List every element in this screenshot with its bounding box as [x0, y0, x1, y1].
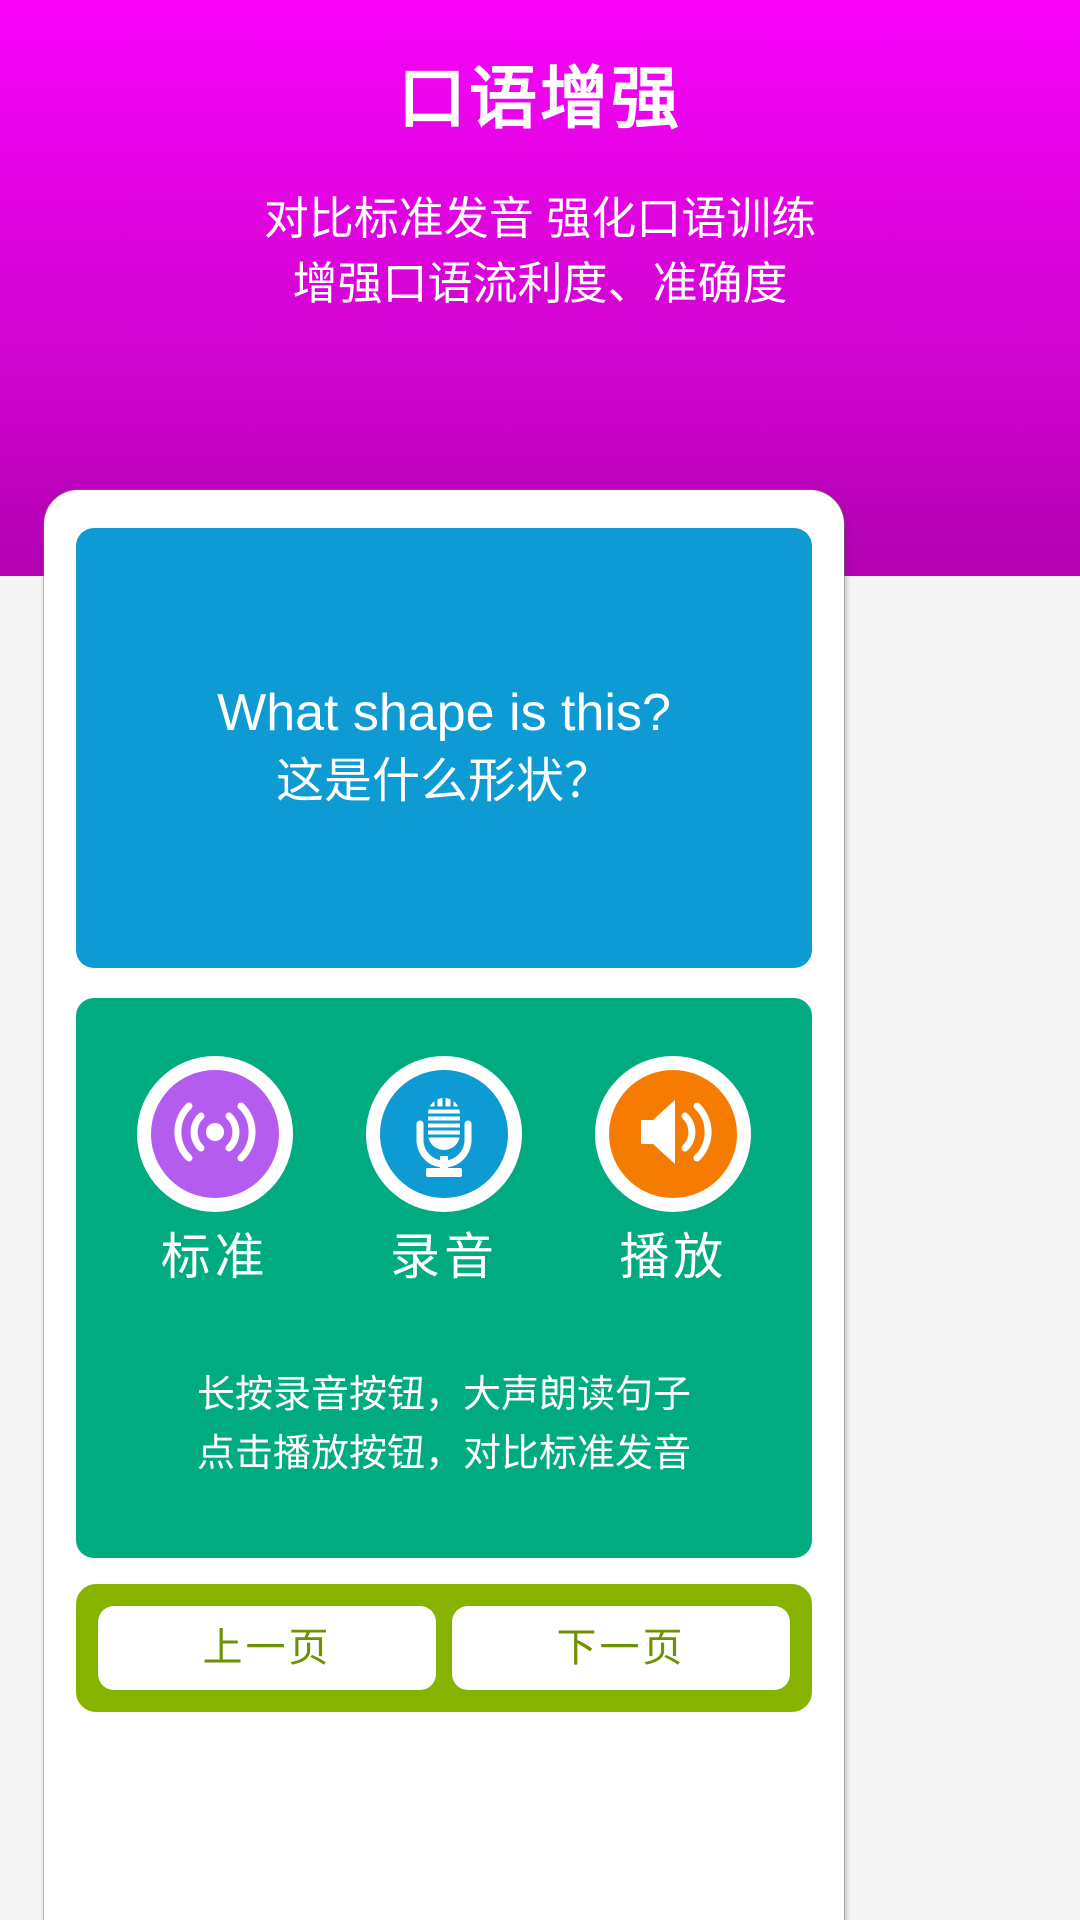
standard-button-ring	[137, 1056, 293, 1212]
device-card: What shape is this? 这是什么形状？	[44, 490, 844, 1920]
record-button-label: 录音	[390, 1232, 498, 1282]
record-button-ring	[366, 1056, 522, 1212]
play-button-label: 播放	[619, 1232, 727, 1282]
standard-button-label: 标准	[161, 1232, 269, 1282]
next-page-button[interactable]: 下一页	[452, 1606, 790, 1690]
page-subtitle-line-1: 对比标准发音 强化口语训练	[0, 186, 1080, 251]
broadcast-signal-icon	[163, 1080, 267, 1189]
speaker-volume-icon	[621, 1080, 725, 1189]
pagination-bar: 上一页 下一页	[76, 1584, 812, 1712]
prompt-panel: What shape is this? 这是什么形状？	[76, 528, 812, 968]
record-button[interactable]: 录音	[339, 1056, 549, 1282]
practice-hint: 长按录音按钮，大声朗读句子 点击播放按钮，对比标准发音	[76, 1366, 812, 1484]
practice-panel: 标准	[76, 998, 812, 1558]
play-button-ring	[595, 1056, 751, 1212]
page-title: 口语增强	[0, 60, 1080, 138]
prompt-english-text: What shape is this?	[217, 684, 671, 744]
standard-button[interactable]: 标准	[110, 1056, 320, 1282]
prompt-chinese-text: 这是什么形状？	[276, 752, 612, 812]
play-button-disc	[609, 1070, 737, 1198]
practice-hint-line-1: 长按录音按钮，大声朗读句子	[76, 1366, 812, 1425]
play-button[interactable]: 播放	[568, 1056, 778, 1282]
practice-hint-line-2: 点击播放按钮，对比标准发音	[76, 1425, 812, 1484]
practice-button-row: 标准	[76, 998, 812, 1282]
previous-page-button[interactable]: 上一页	[98, 1606, 436, 1690]
page-subtitle-line-2: 增强口语流利度、准确度	[0, 251, 1080, 316]
microphone-icon	[392, 1080, 496, 1189]
record-button-disc	[380, 1070, 508, 1198]
page-subtitle: 对比标准发音 强化口语训练 增强口语流利度、准确度	[0, 186, 1080, 317]
standard-button-disc	[151, 1070, 279, 1198]
